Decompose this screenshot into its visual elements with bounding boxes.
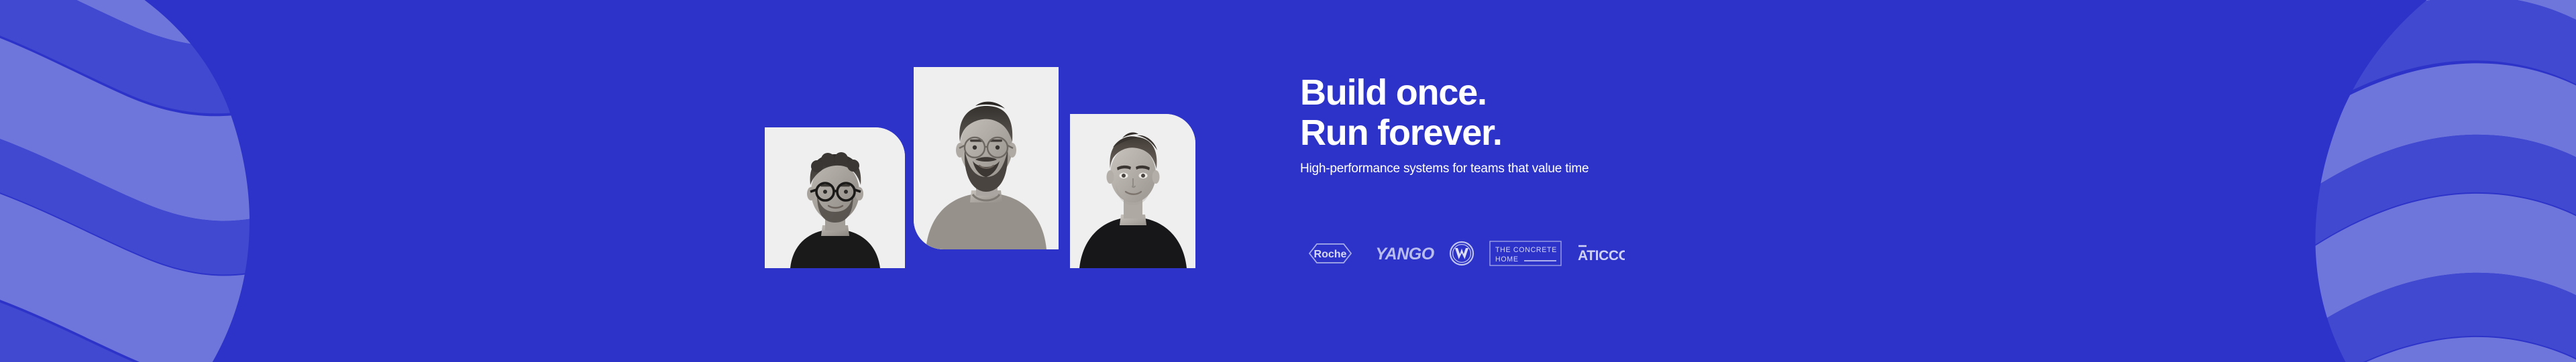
svg-text:YANGO: YANGO <box>1375 245 1434 263</box>
headline-line-2: Run forever. <box>1300 113 1850 153</box>
roche-logo: Roche <box>1300 242 1360 265</box>
promotional-banner: Build once. Run forever. High-performanc… <box>0 0 2576 362</box>
hero-subheadline: High-performance systems for teams that … <box>1300 161 1850 177</box>
team-portrait-3 <box>1070 114 1195 268</box>
right-wave-decoration <box>2227 0 2576 362</box>
volkswagen-logo <box>1449 241 1474 266</box>
yango-logo: YANGO <box>1375 243 1434 263</box>
team-portrait-1 <box>765 127 905 268</box>
svg-text:Roche: Roche <box>1314 249 1347 260</box>
page-title: Build once. Run forever. <box>1300 72 1850 153</box>
team-photo-cluster <box>765 0 1207 362</box>
headline-line-1: Build once. <box>1300 72 1850 113</box>
team-portrait-1-card <box>765 127 905 268</box>
team-portrait-2 <box>914 67 1059 249</box>
aticco-logo: ATICCO <box>1576 242 1625 265</box>
team-portrait-3-card <box>1070 114 1195 268</box>
hero-copy: Build once. Run forever. High-performanc… <box>1300 72 1850 177</box>
the-concrete-home-logo: THE CONCRETE HOME <box>1489 241 1562 266</box>
svg-text:THE CONCRETE: THE CONCRETE <box>1495 246 1557 254</box>
svg-text:HOME: HOME <box>1495 255 1519 263</box>
svg-text:ATICCO: ATICCO <box>1578 248 1625 263</box>
left-wave-decoration <box>0 0 282 362</box>
team-portrait-2-card <box>914 67 1059 249</box>
client-logo-row: Roche YANGO THE CONCRETE HOME <box>1300 236 1625 271</box>
